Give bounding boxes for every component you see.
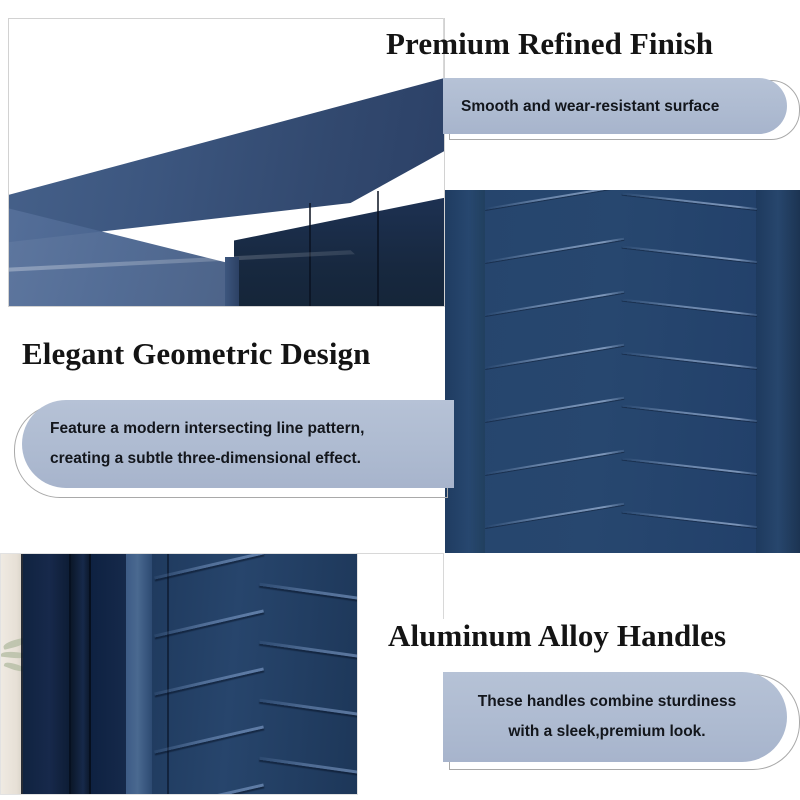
caption-line: creating a subtle three-dimensional effe…	[50, 450, 361, 467]
infographic-canvas: Premium Refined Finish Elegant Geometric…	[0, 0, 800, 800]
door-front-panel	[152, 554, 357, 794]
door-seam	[377, 191, 379, 307]
cabinet-top-photo	[8, 18, 445, 307]
door-left-stile	[445, 190, 485, 553]
door-seam	[167, 554, 169, 794]
cabinet-door-left	[23, 554, 71, 794]
frame-divider	[356, 553, 444, 554]
caption-text-block: These handles combine sturdiness with a …	[453, 687, 761, 747]
feature-heading-aluminum-alloy-handles: Aluminum Alloy Handles	[388, 618, 726, 654]
caption-pill-elegant-geometric-design: Feature a modern intersecting line patte…	[14, 400, 454, 496]
caption-pill-premium-refined-finish: Smooth and wear-resistant surface	[443, 78, 800, 140]
caption-pill-body: These handles combine sturdiness with a …	[443, 672, 787, 762]
caption-line: These handles combine sturdiness	[478, 693, 736, 710]
frame-divider	[443, 553, 444, 619]
caption-text-block: Feature a modern intersecting line patte…	[50, 414, 440, 474]
cabinet-corner-post	[225, 257, 239, 307]
door-right-stile	[756, 190, 800, 553]
door-seam	[89, 554, 91, 794]
caption-pill-body: Smooth and wear-resistant surface	[443, 78, 787, 134]
caption-line: Smooth and wear-resistant surface	[461, 91, 763, 122]
chevron-door-photo	[445, 190, 800, 553]
door-seam	[69, 554, 71, 794]
door-edge-stile	[126, 554, 152, 794]
caption-pill-aluminum-alloy-handles: These handles combine sturdiness with a …	[443, 672, 800, 772]
door-seam	[21, 554, 23, 794]
caption-line: with a sleek,premium look.	[508, 723, 705, 740]
feature-heading-elegant-geometric-design: Elegant Geometric Design	[22, 336, 371, 372]
door-gap-shadow	[71, 554, 91, 794]
feature-heading-premium-refined-finish: Premium Refined Finish	[386, 26, 713, 62]
handle-closeup-photo	[0, 553, 358, 795]
caption-line: Feature a modern intersecting line patte…	[50, 420, 364, 437]
door-center-panel	[485, 190, 756, 553]
caption-pill-body: Feature a modern intersecting line patte…	[22, 400, 454, 488]
